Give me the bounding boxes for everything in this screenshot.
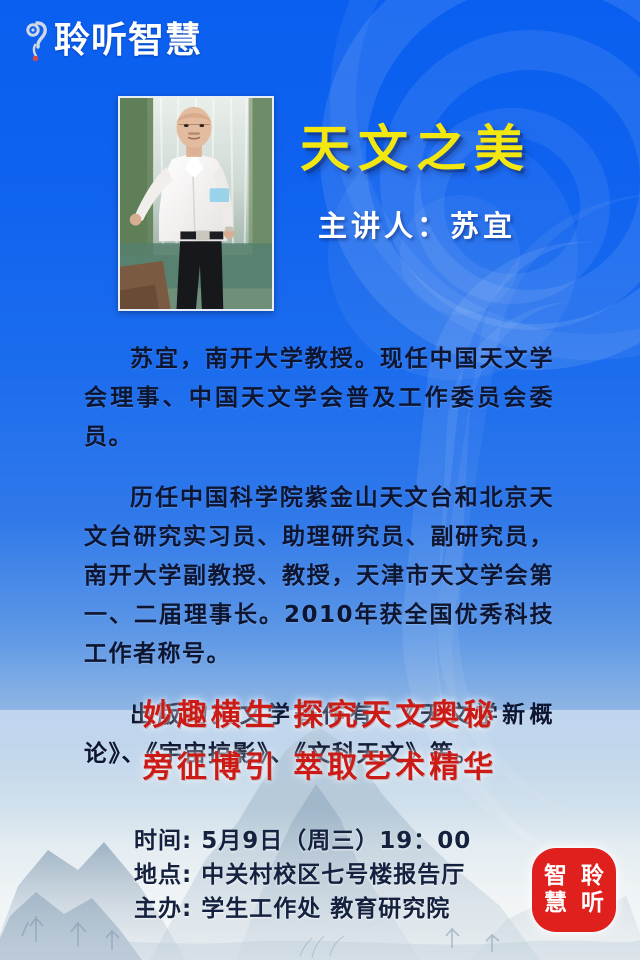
lecture-poster: 聆听智慧: [0, 0, 640, 960]
slogan-block: 妙趣横生 探究天文奥秘 旁征博引 萃取艺术精华: [0, 690, 640, 794]
event-place: 地点: 中关村校区七号楼报告厅: [134, 858, 471, 892]
event-time: 时间: 5月9日（周三）19：00: [134, 824, 471, 858]
brand-seal-stamp: 智慧 聆听: [532, 848, 616, 932]
seal-text-left: 智慧: [537, 863, 574, 917]
speaker-subtitle: 主讲人：苏宜: [318, 212, 618, 241]
page-title: 天文之美: [300, 124, 600, 174]
swirl-ring-2: [380, 30, 640, 330]
ear-question-mark-icon: [24, 19, 50, 63]
brand-logo-text: 聆听智慧: [54, 23, 202, 59]
slogan-line: 妙趣横生 探究天文奥秘: [0, 690, 640, 742]
event-info: 时间: 5月9日（周三）19：00 地点: 中关村校区七号楼报告厅 主办: 学生…: [134, 824, 471, 926]
portrait-image: [120, 98, 272, 309]
bio-paragraph: 历任中国科学院紫金山天文台和北京天文台研究实习员、助理研究员、副研究员，南开大学…: [84, 479, 554, 674]
bio-paragraph: 苏宜，南开大学教授。现任中国天文学会理事、中国天文学会普及工作委员会委员。: [84, 340, 554, 457]
seal-text-right: 聆听: [574, 863, 611, 917]
speaker-photo: [118, 96, 274, 311]
swirl-ring-outer: [330, 0, 640, 360]
swirl-ring-1: [320, 0, 640, 370]
brand-logo: 聆听智慧: [24, 18, 202, 64]
slogan-line: 旁征博引 萃取艺术精华: [0, 742, 640, 794]
event-host: 主办: 学生工作处 教育研究院: [134, 892, 471, 926]
